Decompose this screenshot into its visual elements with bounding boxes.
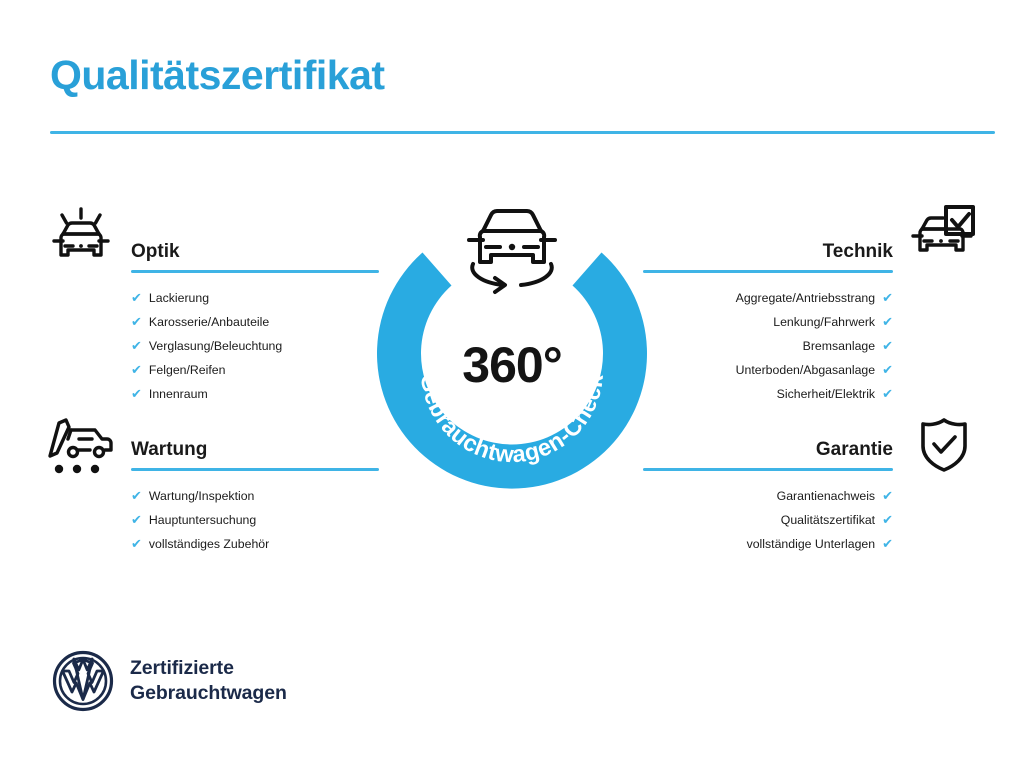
check-icon: ✔ [882,339,893,352]
panel-garantie-list: Garantienachweis✔ Qualitätszertifikat✔ v… [643,484,893,556]
panel-optik-heading: Optik [131,242,379,263]
panel-optik-list: ✔Lackierung ✔Karosserie/Anbauteile ✔Verg… [131,286,379,406]
list-item: ✔vollständiges Zubehör [131,532,379,556]
list-item: ✔Karosserie/Anbauteile [131,310,379,334]
car-rotate-360-icon [453,201,571,297]
car-checkbox-icon [910,205,976,270]
check-icon: ✔ [882,315,893,328]
panel-wartung-heading: Wartung [131,440,379,461]
header-divider [50,131,995,134]
check-icon: ✔ [882,387,893,400]
car-service-pen-icon [47,415,115,482]
list-item-label: Innenraum [149,382,208,406]
list-item: ✔Hauptuntersuchung [131,508,379,532]
list-item-label: vollständige Unterlagen [747,532,876,556]
list-item-label: Karosserie/Anbauteile [149,310,269,334]
list-item-label: Lackierung [149,286,209,310]
check-icon: ✔ [131,363,142,376]
car-polish-shine-icon [47,205,115,276]
panel-wartung-divider [131,468,379,471]
panel-technik-list: Aggregate/Antriebsstrang✔ Lenkung/Fahrwe… [643,286,893,406]
check-icon: ✔ [882,489,893,502]
list-item: ✔Innenraum [131,382,379,406]
check-icon: ✔ [131,291,142,304]
check-icon: ✔ [131,387,142,400]
check-icon: ✔ [882,537,893,550]
list-item: Bremsanlage✔ [643,334,893,358]
list-item: ✔Lackierung [131,286,379,310]
list-item: vollständige Unterlagen✔ [643,532,893,556]
badge-360-check: Gebrauchtwagen-Check 360° [377,196,647,496]
check-icon: ✔ [131,315,142,328]
list-item-label: Bremsanlage [803,334,875,358]
volkswagen-logo [52,650,114,712]
list-item-label: Lenkung/Fahrwerk [773,310,875,334]
list-item: ✔Felgen/Reifen [131,358,379,382]
list-item-label: Aggregate/Antriebsstrang [736,286,875,310]
panel-wartung-list: ✔Wartung/Inspektion ✔Hauptuntersuchung ✔… [131,484,379,556]
list-item-label: Verglasung/Beleuchtung [149,334,282,358]
check-icon: ✔ [882,363,893,376]
list-item: Lenkung/Fahrwerk✔ [643,310,893,334]
panel-technik-heading: Technik [643,242,893,263]
panel-technik-divider [643,270,893,273]
brand-footer: Zertifizierte Gebrauchtwagen [52,650,287,712]
list-item: ✔Wartung/Inspektion [131,484,379,508]
check-icon: ✔ [131,339,142,352]
list-item-label: Wartung/Inspektion [149,484,255,508]
panel-garantie: Garantie Garantienachweis✔ Qualitätszert… [643,440,893,556]
check-icon: ✔ [131,537,142,550]
shield-check-icon [918,416,970,479]
panel-wartung: Wartung ✔Wartung/Inspektion ✔Hauptunters… [131,440,379,556]
list-item: ✔Verglasung/Beleuchtung [131,334,379,358]
panel-optik: Optik ✔Lackierung ✔Karosserie/Anbauteile… [131,242,379,406]
panel-garantie-divider [643,468,893,471]
check-icon: ✔ [882,291,893,304]
panel-garantie-heading: Garantie [643,440,893,461]
list-item: Unterboden/Abgasanlage✔ [643,358,893,382]
list-item-label: Unterboden/Abgasanlage [736,358,875,382]
list-item-label: Hauptuntersuchung [149,508,256,532]
list-item: Qualitätszertifikat✔ [643,508,893,532]
panel-technik: Technik Aggregate/Antriebsstrang✔ Lenkun… [643,242,893,406]
list-item-label: Sicherheit/Elektrik [777,382,875,406]
check-icon: ✔ [131,513,142,526]
page-title: Qualitätszertifikat [50,52,385,99]
list-item: Aggregate/Antriebsstrang✔ [643,286,893,310]
check-icon: ✔ [131,489,142,502]
check-icon: ✔ [882,513,893,526]
list-item-label: Qualitätszertifikat [781,508,875,532]
brand-wordmark: Zertifizierte Gebrauchtwagen [130,656,287,706]
panel-optik-divider [131,270,379,273]
list-item-label: Felgen/Reifen [149,358,226,382]
badge-center-value: 360° [377,336,647,394]
list-item-label: vollständiges Zubehör [149,532,269,556]
list-item: Sicherheit/Elektrik✔ [643,382,893,406]
list-item: Garantienachweis✔ [643,484,893,508]
list-item-label: Garantienachweis [777,484,875,508]
